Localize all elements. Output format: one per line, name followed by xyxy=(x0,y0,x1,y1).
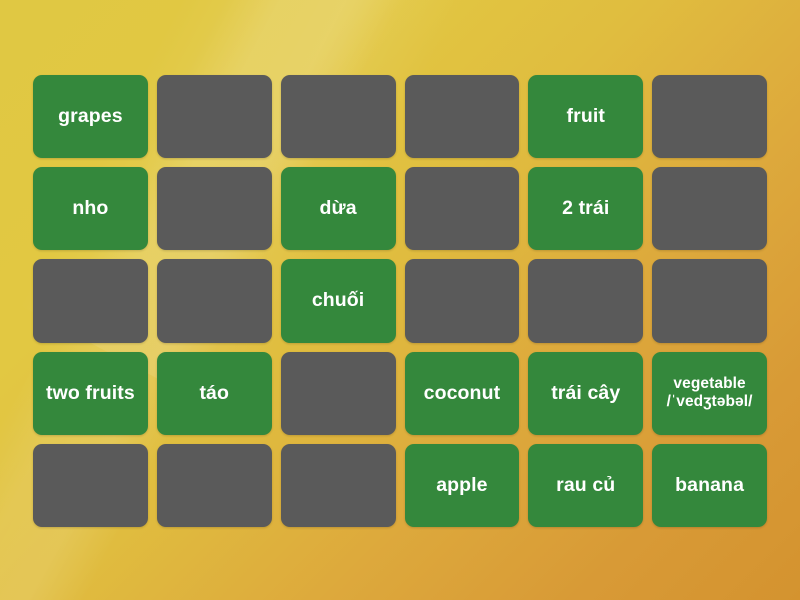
card-face-up[interactable]: coconut xyxy=(405,352,520,435)
card-label: coconut xyxy=(424,382,501,405)
card-face-up[interactable]: nho xyxy=(33,167,148,250)
card-label: rau củ xyxy=(556,474,615,497)
card-label: fruit xyxy=(567,105,605,128)
card-face-down[interactable] xyxy=(157,167,272,250)
card-phonetic-transcription: /ˈvedʒtəbəl/ xyxy=(667,393,753,412)
card-face-up[interactable]: apple xyxy=(405,444,520,527)
card-face-down[interactable] xyxy=(652,75,767,158)
card-label: 2 trái xyxy=(562,197,609,220)
card-label: chuối xyxy=(312,289,365,312)
card-label: vegetable/ˈvedʒtəbəl/ xyxy=(667,375,753,412)
card-label: dừa xyxy=(319,197,356,220)
card-label: grapes xyxy=(58,105,123,128)
card-face-down[interactable] xyxy=(405,167,520,250)
card-label: nho xyxy=(72,197,108,220)
card-face-up[interactable]: trái cây xyxy=(528,352,643,435)
card-face-down[interactable] xyxy=(652,167,767,250)
card-label: banana xyxy=(675,474,744,497)
card-label: two fruits xyxy=(46,382,135,405)
card-face-down[interactable] xyxy=(405,75,520,158)
card-face-down[interactable] xyxy=(281,444,396,527)
card-face-up[interactable]: grapes xyxy=(33,75,148,158)
card-label: táo xyxy=(199,382,229,405)
card-face-down[interactable] xyxy=(157,444,272,527)
card-face-up[interactable]: táo xyxy=(157,352,272,435)
card-face-down[interactable] xyxy=(281,352,396,435)
card-face-up[interactable]: banana xyxy=(652,444,767,527)
card-face-up[interactable]: fruit xyxy=(528,75,643,158)
card-face-down[interactable] xyxy=(157,75,272,158)
matching-pairs-game: grapesfruitnhodừa2 tráichuốitwo fruitstá… xyxy=(0,0,800,600)
card-face-up[interactable]: 2 trái xyxy=(528,167,643,250)
card-label: trái cây xyxy=(551,382,620,405)
card-face-down[interactable] xyxy=(652,259,767,342)
card-face-up[interactable]: chuối xyxy=(281,259,396,342)
card-face-up[interactable]: dừa xyxy=(281,167,396,250)
card-face-down[interactable] xyxy=(33,444,148,527)
card-face-down[interactable] xyxy=(405,259,520,342)
card-face-down[interactable] xyxy=(528,259,643,342)
card-face-down[interactable] xyxy=(33,259,148,342)
card-face-up[interactable]: two fruits xyxy=(33,352,148,435)
card-grid: grapesfruitnhodừa2 tráichuốitwo fruitstá… xyxy=(33,75,767,527)
card-face-down[interactable] xyxy=(157,259,272,342)
card-face-up[interactable]: vegetable/ˈvedʒtəbəl/ xyxy=(652,352,767,435)
card-face-up[interactable]: rau củ xyxy=(528,444,643,527)
card-face-down[interactable] xyxy=(281,75,396,158)
card-label: apple xyxy=(436,474,487,497)
